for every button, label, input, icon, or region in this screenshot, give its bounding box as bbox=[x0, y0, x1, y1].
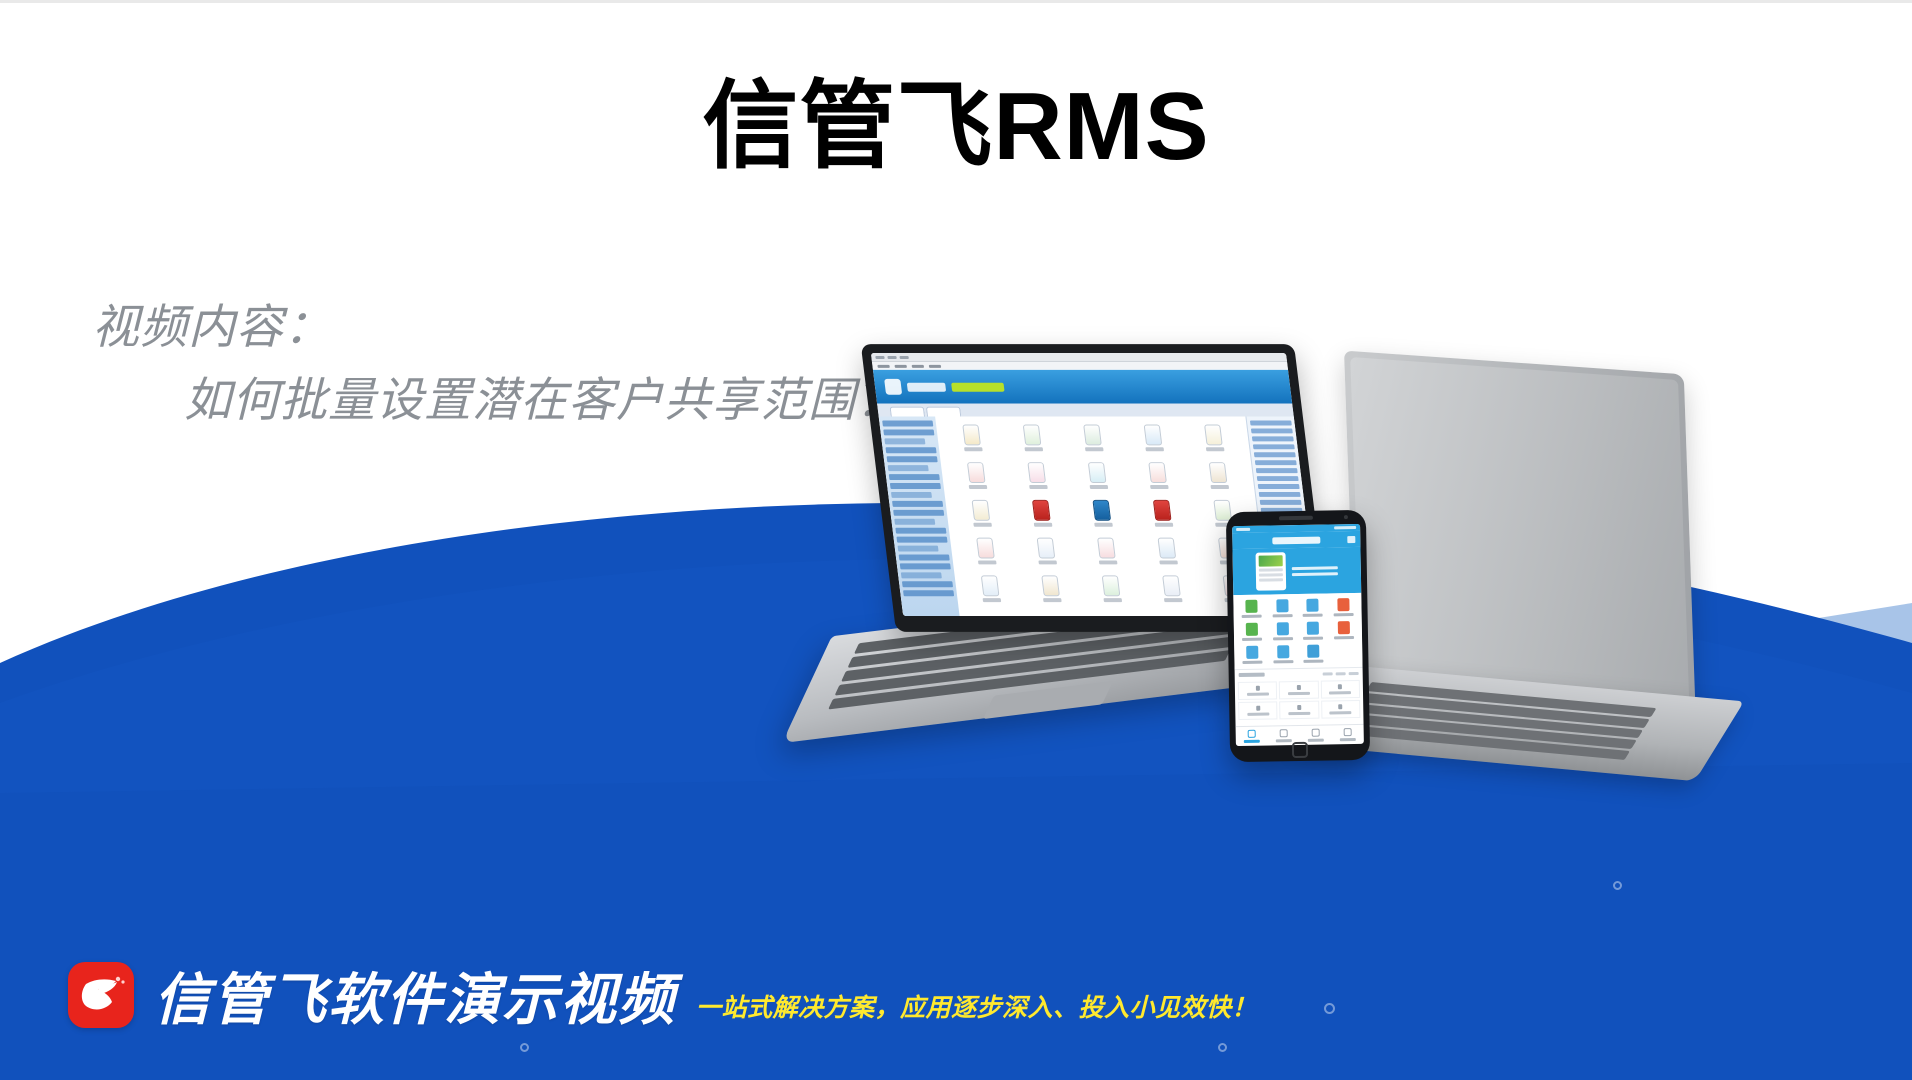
stat-cell bbox=[1238, 701, 1278, 720]
mobile-module-icon[interactable] bbox=[1299, 598, 1327, 616]
app-module-icon[interactable] bbox=[1007, 462, 1068, 496]
app-module-icon[interactable] bbox=[947, 462, 1008, 496]
app-module-icon[interactable] bbox=[942, 424, 1003, 458]
stat-cell bbox=[1279, 681, 1319, 700]
app-module-icon[interactable] bbox=[1068, 462, 1129, 496]
app-titlebar bbox=[871, 353, 1287, 362]
app-module-icon[interactable] bbox=[1128, 462, 1189, 496]
app-module-icon[interactable] bbox=[1003, 424, 1064, 458]
mobile-module-icon[interactable] bbox=[1269, 645, 1297, 663]
bird-logo-svg bbox=[68, 962, 134, 1028]
app-module-icon[interactable] bbox=[1142, 575, 1203, 609]
footer-tagline: 一站式解决方案，应用逐步深入、投入小见效快！ bbox=[696, 988, 1257, 1028]
section-title bbox=[1239, 673, 1265, 677]
app-module-icon[interactable] bbox=[1184, 424, 1245, 458]
app-module-icon[interactable] bbox=[1137, 538, 1198, 572]
subtitle-question: 如何批量设置潜在客户共享范围？ bbox=[92, 364, 904, 437]
mobile-module-icon[interactable] bbox=[1330, 598, 1358, 616]
nav-profile-icon[interactable] bbox=[1332, 725, 1364, 745]
app-module-icon[interactable] bbox=[1077, 538, 1138, 572]
decorative-dot bbox=[1324, 1003, 1335, 1014]
app-module-icon[interactable] bbox=[1063, 424, 1124, 458]
decorative-dot bbox=[1218, 1043, 1227, 1052]
hamburger-menu-icon[interactable] bbox=[1347, 535, 1355, 542]
mobile-stats-grid bbox=[1235, 678, 1364, 724]
app-module-icon[interactable] bbox=[1012, 500, 1073, 534]
mobile-module-icon[interactable] bbox=[1238, 623, 1266, 641]
decorative-dot bbox=[520, 1043, 529, 1052]
footer-brand-title: 信管飞软件演示视频 bbox=[154, 972, 676, 1028]
subtitle-label: 视频内容： bbox=[92, 291, 904, 364]
app-tab-strip[interactable] bbox=[877, 404, 1294, 417]
phone-home-button[interactable] bbox=[1292, 742, 1308, 758]
app-module-icon[interactable] bbox=[1133, 500, 1194, 534]
mobile-module-icon[interactable] bbox=[1269, 622, 1297, 640]
phone-speaker bbox=[1279, 516, 1313, 521]
app-module-icon[interactable] bbox=[1123, 424, 1184, 458]
bird-logo-icon bbox=[68, 962, 134, 1028]
phone-illustration-icon bbox=[1256, 552, 1287, 591]
page-title: 信管飞RMS bbox=[0, 69, 1912, 184]
mobile-module-icon[interactable] bbox=[1330, 621, 1358, 639]
stat-cell bbox=[1238, 681, 1278, 700]
nav-home-icon[interactable] bbox=[1236, 727, 1268, 747]
app-header-highlight bbox=[951, 382, 1004, 391]
footer-branding: 信管飞软件演示视频 一站式解决方案，应用逐步深入、投入小见效快！ bbox=[68, 962, 1257, 1028]
presentation-slide: 信管飞RMS 视频内容： 如何批量设置潜在客户共享范围？ bbox=[0, 0, 1912, 1080]
device-mockup-group bbox=[880, 383, 1912, 943]
stat-cell bbox=[1320, 680, 1360, 699]
filter-option[interactable] bbox=[1336, 672, 1346, 675]
app-logo-icon bbox=[884, 379, 902, 395]
app-header-banner bbox=[873, 370, 1292, 404]
mobile-module-icon[interactable] bbox=[1237, 600, 1265, 618]
stat-cell bbox=[1279, 701, 1319, 720]
app-module-icon[interactable] bbox=[956, 538, 1017, 572]
filter-option[interactable] bbox=[1323, 672, 1333, 675]
phone-camera-icon bbox=[1344, 515, 1348, 519]
smartphone-icon bbox=[1226, 510, 1370, 762]
app-module-icon[interactable] bbox=[951, 500, 1012, 534]
mobile-module-icon[interactable] bbox=[1238, 646, 1266, 664]
mobile-app-header bbox=[1232, 531, 1360, 549]
mobile-module-icon[interactable] bbox=[1299, 621, 1327, 639]
decorative-dot bbox=[1613, 881, 1622, 890]
stat-cell bbox=[1321, 700, 1361, 719]
banner-text-lines bbox=[1292, 566, 1338, 576]
filter-option[interactable] bbox=[1349, 671, 1359, 674]
app-icon-grid[interactable] bbox=[935, 417, 1270, 617]
mobile-icon-grid[interactable] bbox=[1233, 593, 1362, 669]
app-menubar bbox=[872, 362, 1288, 370]
mobile-module-icon bbox=[1330, 644, 1358, 662]
app-module-icon[interactable] bbox=[1016, 538, 1077, 572]
app-module-icon[interactable] bbox=[1072, 500, 1133, 534]
subtitle-block: 视频内容： 如何批量设置潜在客户共享范围？ bbox=[92, 291, 904, 437]
mobile-module-icon[interactable] bbox=[1268, 599, 1296, 617]
mobile-app-title bbox=[1272, 536, 1320, 544]
mobile-module-icon[interactable] bbox=[1300, 644, 1328, 662]
app-module-icon[interactable] bbox=[961, 575, 1022, 609]
app-module-icon[interactable] bbox=[1189, 462, 1250, 496]
mobile-hero-banner bbox=[1232, 547, 1361, 595]
app-brand-text bbox=[907, 382, 946, 391]
app-module-icon[interactable] bbox=[1021, 575, 1082, 609]
app-module-icon[interactable] bbox=[1082, 575, 1143, 609]
phone-screen bbox=[1232, 524, 1364, 746]
